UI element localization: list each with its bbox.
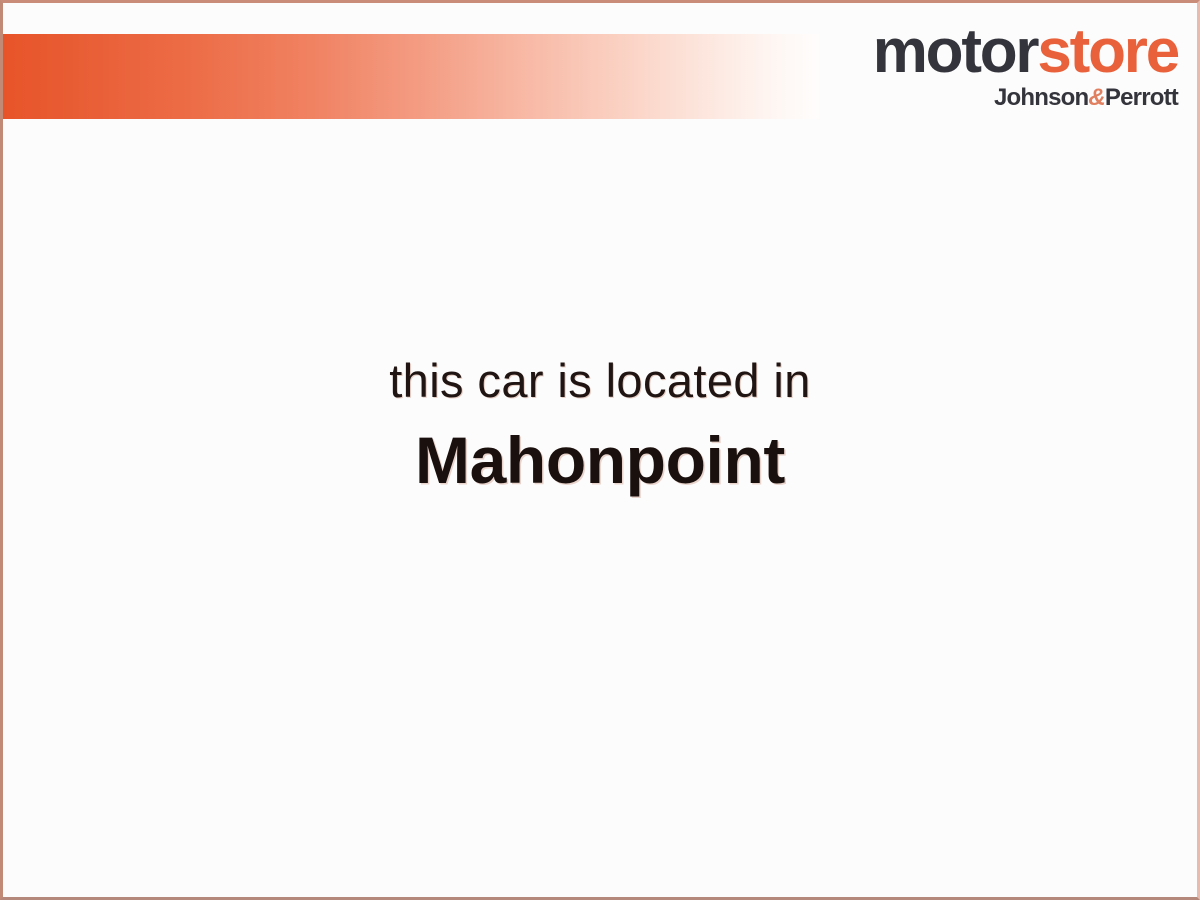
orange-gradient-bar xyxy=(3,34,819,119)
vehicle-location-banner: motorstore Johnson&Perrott this car is l… xyxy=(0,0,1200,900)
logo-wordmark: motorstore xyxy=(873,21,1178,83)
logo-subtitle: Johnson&Perrott xyxy=(873,86,1178,110)
location-message: this car is located in Mahonpoint xyxy=(3,355,1197,499)
logo-word-store: store xyxy=(1037,17,1178,86)
logo-subtitle-johnson: Johnson xyxy=(994,84,1088,111)
logo-subtitle-ampersand: & xyxy=(1088,84,1105,111)
brand-header: motorstore Johnson&Perrott xyxy=(3,3,1197,131)
location-message-place: Mahonpoint xyxy=(3,423,1197,499)
logo-subtitle-perrott: Perrott xyxy=(1105,84,1178,111)
logo-word-motor: motor xyxy=(873,17,1038,86)
location-message-intro: this car is located in xyxy=(3,355,1197,407)
motorstore-logo: motorstore Johnson&Perrott xyxy=(873,21,1178,110)
